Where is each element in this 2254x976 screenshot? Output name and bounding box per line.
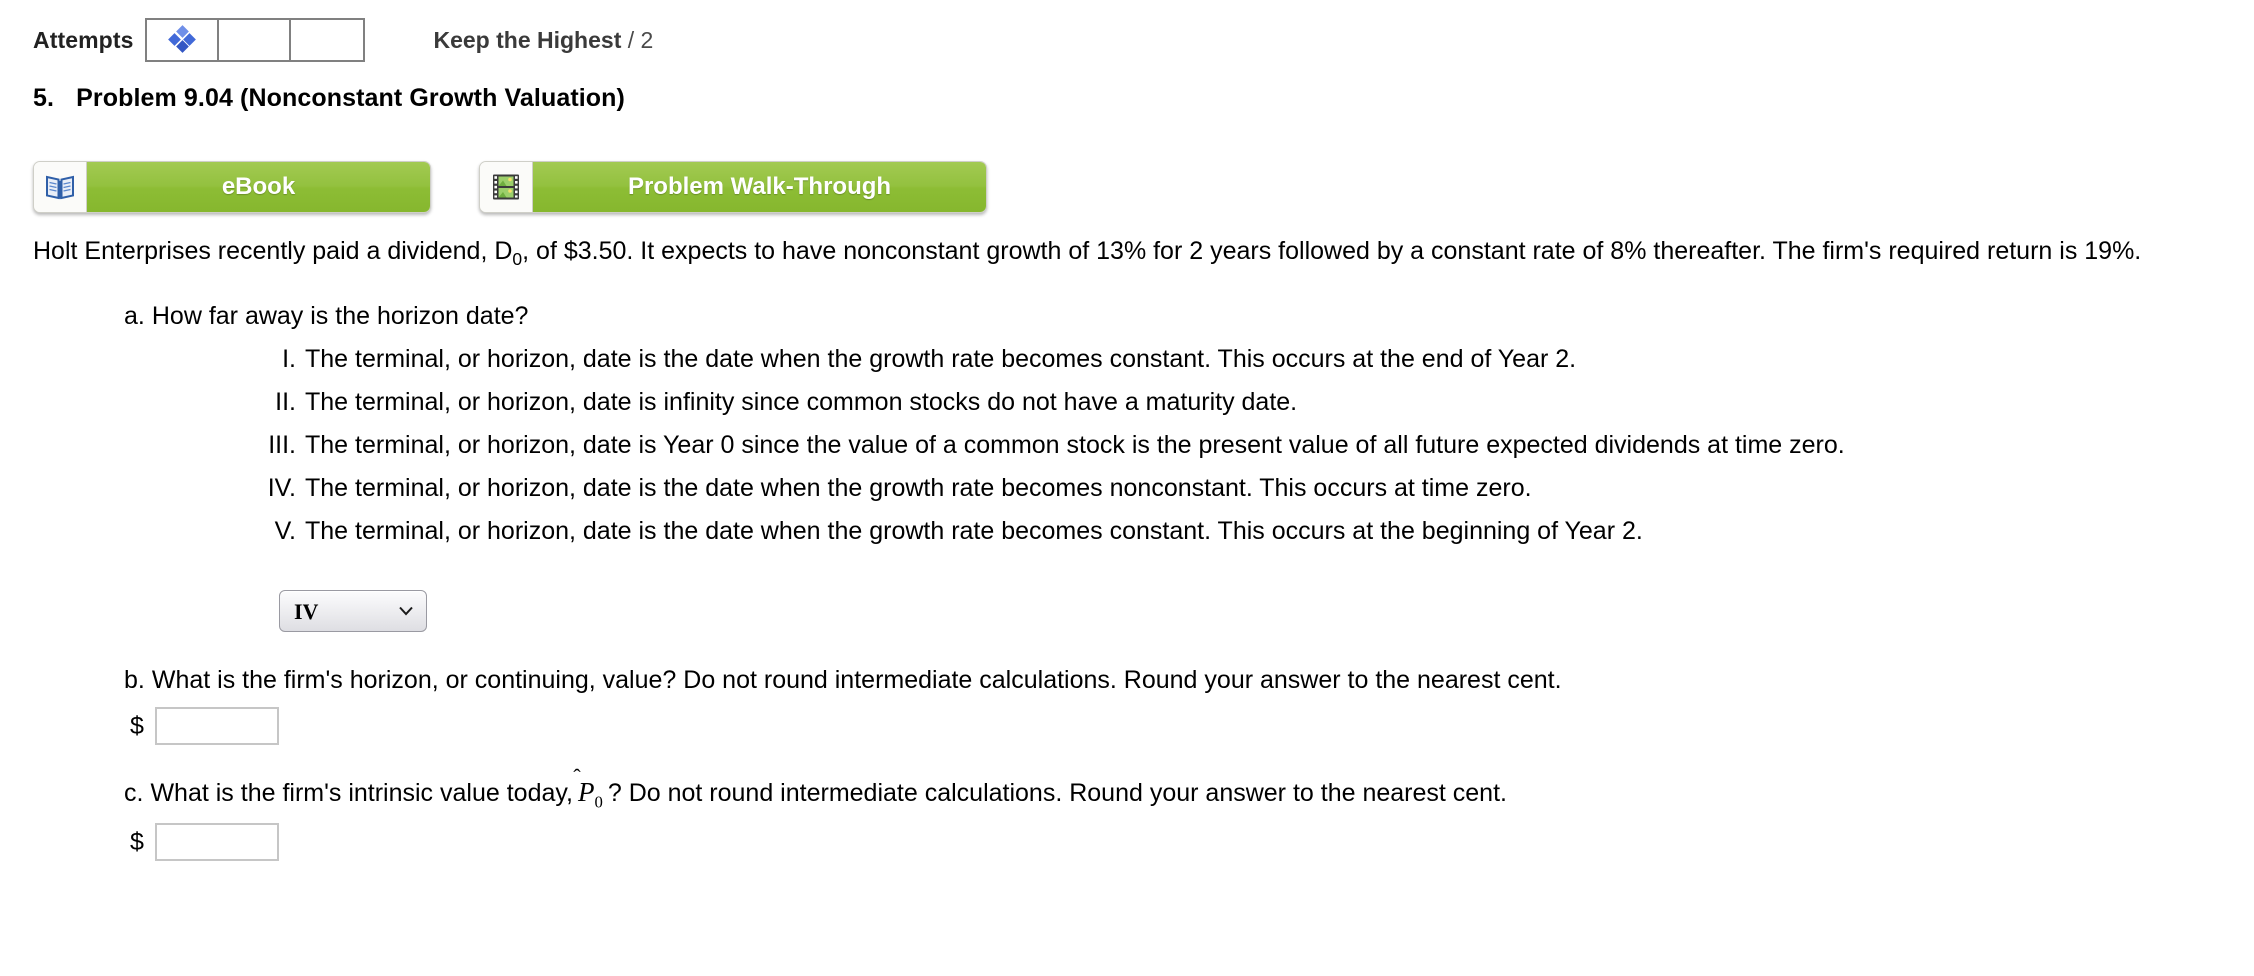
option-v-number: V. <box>240 519 296 544</box>
option-ii-number: II. <box>240 390 296 415</box>
horizon-date-select[interactable]: IV <box>279 590 427 632</box>
attempts-header: Attempts Keep the Highest / 2 <box>0 0 2254 62</box>
book-icon <box>34 162 86 212</box>
problem-statement-part1: Holt Enterprises recently paid a dividen… <box>33 237 512 265</box>
p-hat-subscript: 0 <box>594 793 602 812</box>
horizon-value-input[interactable] <box>155 707 279 745</box>
film-strip-icon <box>480 162 532 212</box>
option-i-number: I. <box>240 347 296 372</box>
option-iii-text: The terminal, or horizon, date is Year 0… <box>305 433 2254 458</box>
currency-symbol-c: $ <box>130 828 144 857</box>
attempts-label: Attempts <box>33 27 133 54</box>
page-title: 5. Problem 9.04 (Nonconstant Growth Valu… <box>0 62 2254 113</box>
question-c-letter: c. <box>124 779 143 808</box>
intrinsic-value-input[interactable] <box>155 823 279 861</box>
option-v: V. The terminal, or horizon, date is the… <box>240 519 2254 544</box>
problem-statement-part2: , of $3.50. It expects to have nonconsta… <box>522 237 2141 265</box>
question-a-answer-area: IV <box>124 562 2254 632</box>
ebook-button-label: eBook <box>86 162 430 212</box>
question-b: b.What is the firm's horizon, or continu… <box>0 632 2254 745</box>
question-a-prompt: a.How far away is the horizon date? <box>124 302 2254 331</box>
option-i-text: The terminal, or horizon, date is the da… <box>305 347 2254 372</box>
question-c: c.What is the firm's intrinsic value tod… <box>0 745 2254 861</box>
option-iii: III. The terminal, or horizon, date is Y… <box>240 433 2254 458</box>
question-c-text-before: What is the firm's intrinsic value today… <box>150 779 573 808</box>
resource-buttons: eBook <box>0 113 2254 213</box>
attempt-cell-2 <box>219 20 291 60</box>
question-b-text: What is the firm's horizon, or continuin… <box>152 666 1562 695</box>
question-b-prompt: b.What is the firm's horizon, or continu… <box>124 666 2254 695</box>
question-b-answer-row: $ <box>124 707 2254 745</box>
attempts-box-group <box>145 18 365 62</box>
problem-walkthrough-button-label: Problem Walk-Through <box>532 162 986 212</box>
option-iv-number: IV. <box>240 476 296 501</box>
question-c-prompt: c.What is the firm's intrinsic value tod… <box>124 779 2254 811</box>
diamond-cluster-icon <box>169 27 195 53</box>
problem-number: 5. <box>33 84 54 112</box>
question-a-letter: a. <box>124 302 145 330</box>
p-hat-symbol: ̂P0 <box>576 779 605 811</box>
question-c-answer-row: $ <box>124 823 2254 861</box>
p-hat-letter: P <box>578 777 595 807</box>
problem-title-text: Problem 9.04 (Nonconstant Growth Valuati… <box>76 84 625 112</box>
question-a-text: How far away is the horizon date? <box>152 302 529 330</box>
option-iii-number: III. <box>240 433 296 458</box>
question-a-options: I. The terminal, or horizon, date is the… <box>124 347 2254 544</box>
problem-walkthrough-button[interactable]: Problem Walk-Through <box>479 161 987 213</box>
problem-statement: Holt Enterprises recently paid a dividen… <box>0 213 2230 272</box>
question-b-letter: b. <box>124 666 145 695</box>
option-iv: IV. The terminal, or horizon, date is th… <box>240 476 2254 501</box>
keep-highest: Keep the Highest / 2 <box>433 27 653 54</box>
keep-highest-score: / 2 <box>628 27 654 53</box>
keep-highest-label: Keep the Highest <box>433 27 621 53</box>
currency-symbol-b: $ <box>130 712 144 741</box>
option-v-text: The terminal, or horizon, date is the da… <box>305 519 2254 544</box>
dividend-subscript: 0 <box>512 249 522 269</box>
option-i: I. The terminal, or horizon, date is the… <box>240 347 2254 372</box>
option-iv-text: The terminal, or horizon, date is the da… <box>305 476 2254 501</box>
question-a: a.How far away is the horizon date? I. T… <box>0 272 2254 632</box>
attempt-cell-3 <box>291 20 363 60</box>
option-ii: II. The terminal, or horizon, date is in… <box>240 390 2254 415</box>
question-c-text-after: ? Do not round intermediate calculations… <box>608 779 1507 808</box>
ebook-button[interactable]: eBook <box>33 161 431 213</box>
option-ii-text: The terminal, or horizon, date is infini… <box>305 390 2254 415</box>
attempt-cell-1 <box>147 20 219 60</box>
